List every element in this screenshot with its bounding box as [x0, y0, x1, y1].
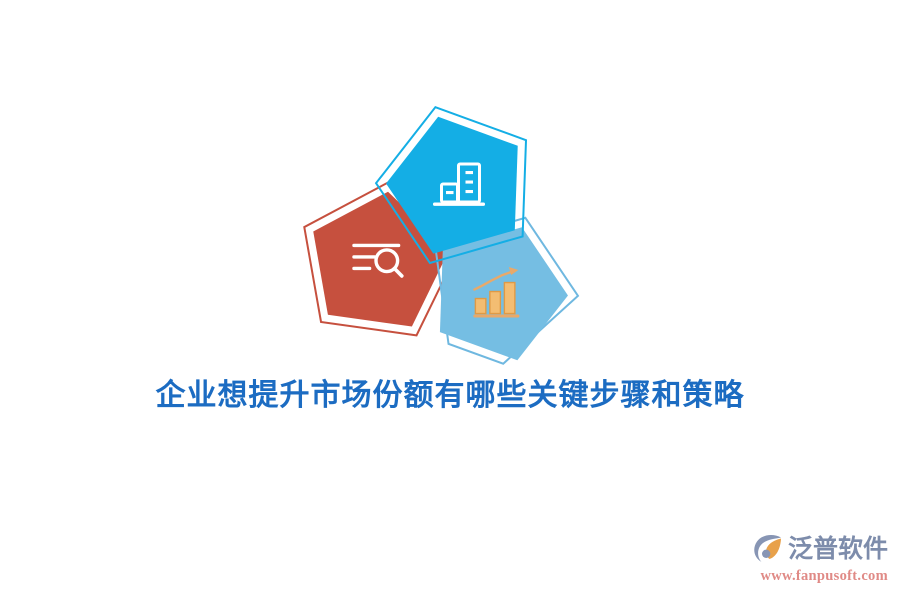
fanpu-swirl-logo-icon — [751, 532, 785, 566]
brand-url: www.fanpusoft.com — [756, 567, 888, 585]
brand-watermark: 泛普软件 www.fanpusoft.com — [756, 530, 888, 592]
brand-name: 泛普软件 — [788, 534, 888, 564]
pentagon-cluster-svg — [300, 108, 590, 363]
page-root: 企业想提升市场份额有哪些关键步骤和策略 泛普软件 www.fanpusoft.c… — [0, 0, 900, 600]
page-title: 企业想提升市场份额有哪些关键步骤和策略 — [0, 375, 900, 417]
hero-graphic — [300, 108, 590, 363]
brand-logo-row: 泛普软件 — [756, 530, 888, 568]
